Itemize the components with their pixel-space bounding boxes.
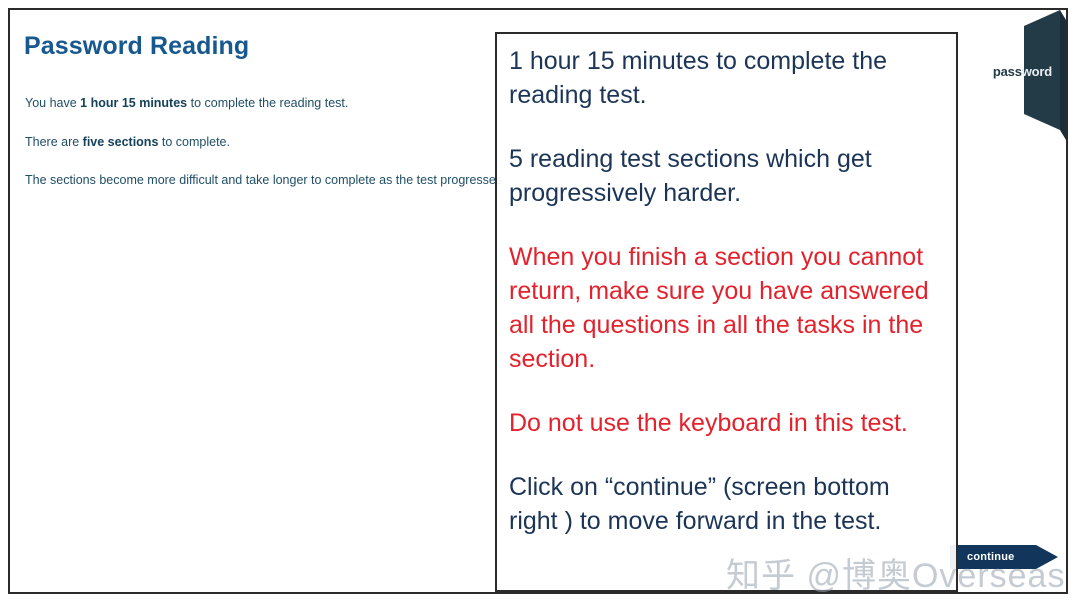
password-logo-text-bold: pass: [993, 64, 1022, 79]
slide-line-2-strong: five sections: [83, 135, 159, 149]
overlay-paragraph-2: 5 reading test sections which get progre…: [509, 142, 942, 210]
overlay-paragraph-5: Click on “continue” (screen bottom right…: [509, 470, 942, 538]
slide-line-2-pre: There are: [25, 135, 83, 149]
slide-line-1-pre: You have: [25, 96, 80, 110]
password-logo-text: password: [993, 64, 1052, 79]
continue-button[interactable]: continue: [950, 542, 1058, 572]
continue-button-label: continue: [950, 551, 1014, 563]
password-logo-text-rest: word: [1022, 64, 1052, 79]
slide-body-line-3: The sections become more difficult and t…: [25, 173, 506, 187]
instructions-overlay: 1 hour 15 minutes to complete the readin…: [495, 32, 958, 592]
page-title: Password Reading: [24, 32, 249, 61]
slide-line-3-pre: The sections become more difficult and t…: [25, 173, 506, 187]
slide-body-line-1: You have 1 hour 15 minutes to complete t…: [25, 96, 348, 110]
slide-body-line-2: There are five sections to complete.: [25, 135, 230, 149]
overlay-paragraph-4: Do not use the keyboard in this test.: [509, 406, 942, 440]
slide-line-1-strong: 1 hour 15 minutes: [80, 96, 187, 110]
slide-line-2-post: to complete.: [158, 135, 230, 149]
overlay-paragraph-1: 1 hour 15 minutes to complete the readin…: [509, 44, 942, 112]
password-logo: password: [984, 8, 1066, 142]
slide-canvas: Password Reading You have 1 hour 15 minu…: [8, 8, 1068, 594]
slide-line-1-post: to complete the reading test.: [187, 96, 348, 110]
overlay-paragraph-3: When you finish a section you cannot ret…: [509, 240, 942, 376]
